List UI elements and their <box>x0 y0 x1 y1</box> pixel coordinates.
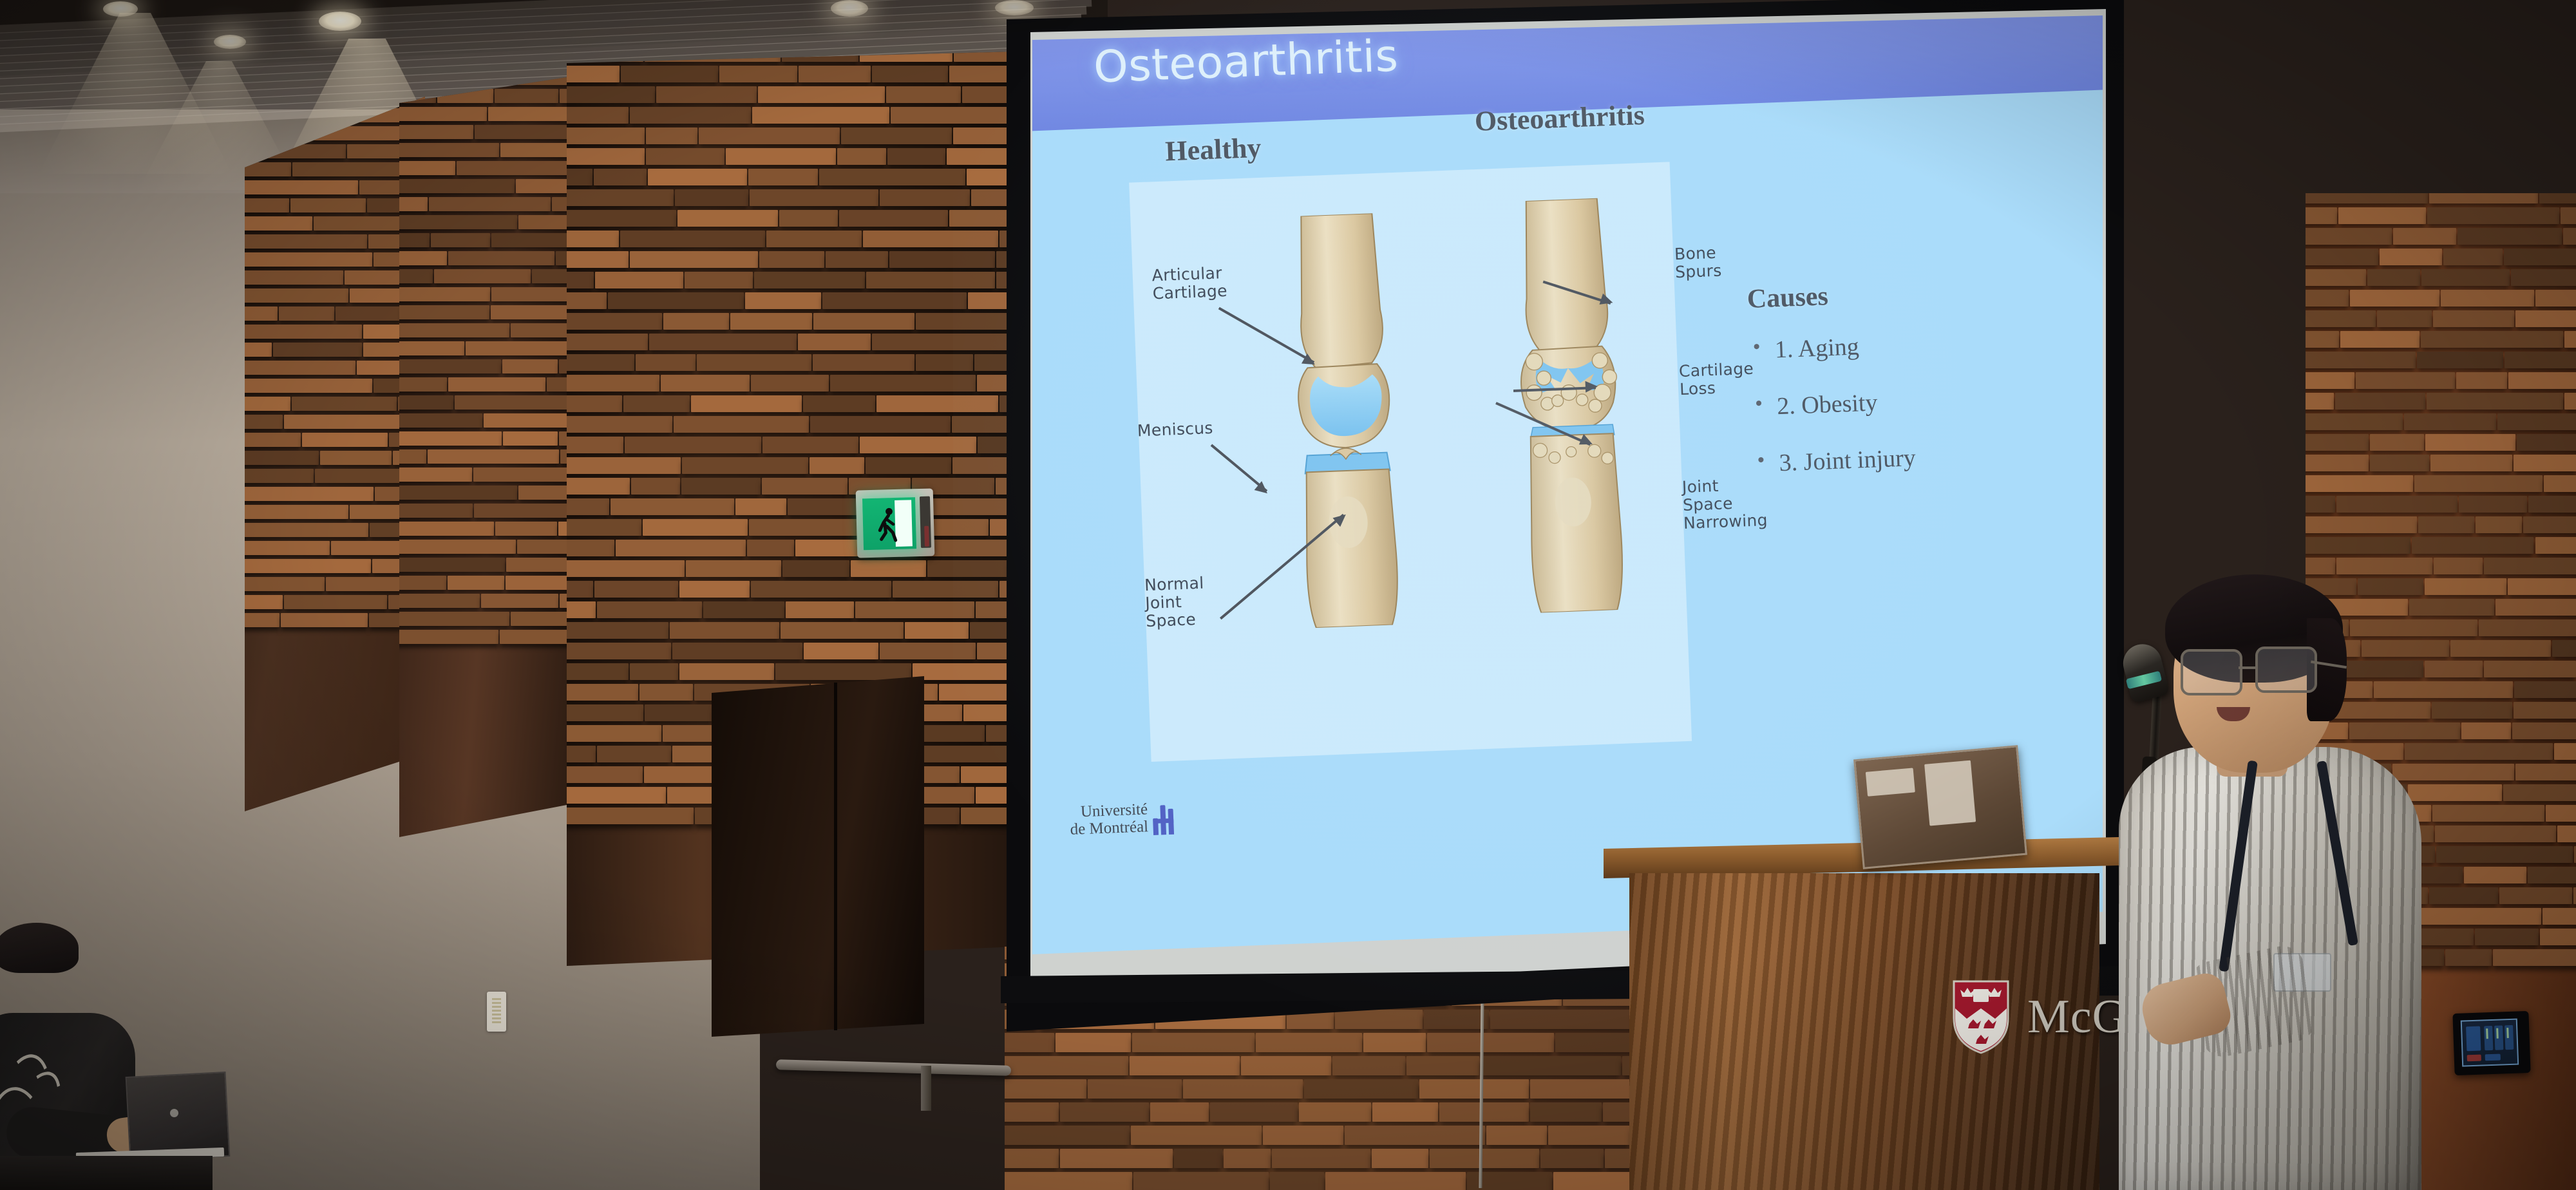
wood-plank <box>1299 1102 1371 1122</box>
wood-plank <box>893 581 998 598</box>
wood-plank <box>2427 207 2559 224</box>
handrail <box>776 1059 1011 1076</box>
wood-plank <box>518 486 567 500</box>
wood-plank <box>616 540 746 556</box>
wood-plank <box>826 251 889 268</box>
wood-plank <box>567 127 645 144</box>
wood-plank <box>567 498 609 515</box>
wood-plank <box>560 89 567 103</box>
wood-plank <box>1005 1126 1130 1145</box>
wood-plank <box>1406 1056 1479 1075</box>
wood-plank <box>2338 207 2426 224</box>
wood-plank <box>567 807 694 824</box>
wood-plank <box>399 449 426 464</box>
wood-plank <box>567 272 594 288</box>
wood-plank <box>284 415 413 429</box>
wood-plank <box>675 189 748 206</box>
wood-plank <box>636 354 696 371</box>
wood-plank <box>866 457 951 474</box>
cause-item: 1. Aging <box>1774 330 1912 364</box>
wood-plank <box>245 343 272 357</box>
wood-plank <box>2554 743 2576 760</box>
wood-plank <box>2306 434 2369 451</box>
wall-switch-plate[interactable] <box>487 992 506 1032</box>
wood-plank <box>245 415 283 429</box>
wood-plank <box>2503 784 2576 801</box>
wood-plank <box>799 66 871 82</box>
mcgill-shield-icon <box>1951 979 2011 1055</box>
av-volume-slider[interactable] <box>2505 1025 2514 1050</box>
wood-plank <box>567 457 681 474</box>
wood-plank <box>880 189 970 206</box>
wood-plank <box>1241 1056 1331 1075</box>
av-volume-slider[interactable] <box>2484 1026 2493 1050</box>
av-volume-slider[interactable] <box>2494 1025 2503 1050</box>
wood-plank <box>567 601 596 618</box>
wood-plank <box>2433 310 2514 327</box>
wood-plank <box>2377 310 2432 327</box>
annotation-cartilage-loss: CartilageLoss <box>1679 360 1755 399</box>
lecture-hall-scene: Osteoarthritis Healthy Osteoarthritis <box>0 0 2576 1190</box>
wood-plank <box>751 375 829 392</box>
wood-plank <box>245 559 371 573</box>
wood-plank <box>399 143 499 157</box>
laptop-sticker <box>1866 768 1915 796</box>
wood-plank <box>2479 619 2576 636</box>
wood-plank <box>1210 1102 1298 1122</box>
wood-plank <box>2432 702 2512 719</box>
wood-plank <box>399 251 447 265</box>
wood-plank <box>2528 496 2576 513</box>
wood-plank <box>2350 290 2439 307</box>
wood-plank <box>567 766 643 783</box>
wood-plank <box>399 630 498 644</box>
wood-plank <box>567 478 630 495</box>
exit-sign-led <box>924 526 929 547</box>
wood-plank <box>2306 475 2413 492</box>
wood-plank <box>475 125 567 139</box>
wood-plank <box>608 292 744 309</box>
wood-plank <box>876 395 998 412</box>
wood-plank <box>457 161 567 175</box>
wood-plank <box>2564 393 2576 410</box>
wood-plank <box>1419 1079 1529 1099</box>
wood-plank <box>399 612 509 626</box>
wood-plank-column <box>399 77 567 837</box>
wood-plank <box>2306 249 2378 265</box>
wood-plank <box>2441 290 2534 307</box>
wood-plank <box>2450 640 2551 657</box>
wood-plank <box>2476 516 2522 533</box>
cause-item: 3. Joint injury <box>1779 444 1917 477</box>
wood-plank <box>751 581 891 598</box>
wood-plank <box>1133 1172 1269 1190</box>
wood-plank <box>927 560 1008 577</box>
wood-plank <box>245 487 374 501</box>
exit-sign-face <box>862 497 916 550</box>
wood-plank <box>245 198 289 212</box>
av-panel-screen[interactable] <box>2461 1019 2519 1067</box>
wood-plank <box>2539 193 2576 203</box>
wood-plank <box>428 449 558 464</box>
wood-plank <box>518 215 567 229</box>
wood-plank <box>685 272 753 288</box>
wood-plank <box>245 270 343 285</box>
wood-plank <box>1224 1149 1271 1168</box>
wood-plank <box>556 251 567 265</box>
wood-plank <box>747 540 794 556</box>
wood-plank <box>399 540 516 554</box>
wood-plank <box>567 354 634 371</box>
wood-plank <box>488 107 567 121</box>
wood-plank <box>2356 372 2455 389</box>
wood-plank <box>887 148 945 165</box>
wood-plank <box>2484 558 2576 574</box>
wood-plank <box>245 577 325 591</box>
wood-plank <box>730 313 812 330</box>
wood-plank <box>1372 1102 1438 1122</box>
wood-plank <box>399 323 509 337</box>
wood-plank <box>1056 1033 1131 1052</box>
downlight-icon <box>214 35 246 49</box>
wood-plank <box>517 540 567 554</box>
laptop-sticker <box>1924 760 1976 826</box>
wood-plank <box>273 343 362 357</box>
wood-plank <box>928 498 1018 515</box>
laptop-logo-icon <box>170 1109 178 1117</box>
wood-plank <box>810 416 951 433</box>
wood-plank-wall <box>245 97 425 811</box>
wood-plank <box>567 251 629 268</box>
causes-block: Causes 1. Aging 2. Obesity 3. Joint inju… <box>1744 278 1917 507</box>
wood-plank <box>2421 269 2509 286</box>
cause-item: 2. Obesity <box>1776 387 1914 420</box>
wood-plank <box>786 601 853 618</box>
wood-plank <box>699 127 840 144</box>
wood-plank <box>837 148 886 165</box>
wood-plank <box>431 233 490 247</box>
wood-plank <box>2514 702 2576 719</box>
wood-plank <box>759 251 824 268</box>
wood-plank <box>819 169 965 185</box>
wood-plank <box>2495 599 2576 616</box>
wood-plank <box>851 560 926 577</box>
wood-plank <box>567 622 668 639</box>
wood-plank <box>245 361 355 375</box>
wood-plank <box>2425 434 2515 451</box>
wood-plank <box>399 522 494 536</box>
wood-plank <box>886 86 961 103</box>
wood-plank <box>2306 413 2403 430</box>
wood-plank <box>567 704 643 721</box>
wood-plank <box>245 469 314 483</box>
wood-plank <box>429 197 551 211</box>
wood-plank <box>2523 516 2576 533</box>
wood-plank <box>567 519 641 536</box>
wood-plank <box>2418 516 2474 533</box>
wood-plank <box>567 169 592 185</box>
wood-plank <box>656 86 757 103</box>
wood-plank <box>813 313 914 330</box>
wood-plank <box>399 107 487 121</box>
wood-plank <box>697 354 811 371</box>
podium: McGill <box>1604 837 2119 1190</box>
wood-plank <box>245 252 372 267</box>
wood-plank <box>2306 393 2334 410</box>
wood-plank <box>245 307 278 321</box>
wood-plank <box>1060 1149 1172 1168</box>
wood-plank <box>726 148 836 165</box>
wood-plank <box>1130 1056 1240 1075</box>
wood-plank <box>2436 846 2573 863</box>
wood-plank <box>399 594 480 608</box>
wood-plank <box>245 397 290 411</box>
wood-plank <box>1486 1126 1547 1145</box>
wood-plank <box>758 86 885 103</box>
wood-plank <box>399 161 455 175</box>
wood-plank <box>2546 805 2576 822</box>
wood-plank <box>1256 1033 1362 1052</box>
wood-plank <box>560 449 567 464</box>
wood-plank <box>2464 867 2526 883</box>
wood-plank <box>754 272 865 288</box>
wood-plank <box>455 395 567 410</box>
wood-plank <box>567 231 619 247</box>
wood-plank <box>2367 269 2421 286</box>
presenter-laptop[interactable] <box>1853 745 2027 869</box>
universite-de-montreal-logo: Université de Montréal <box>1069 799 1179 838</box>
downlight-icon <box>319 12 361 31</box>
wood-plank <box>645 704 712 721</box>
downlight-icon <box>995 0 1034 15</box>
wood-plank <box>2461 722 2511 739</box>
wood-plank <box>2499 887 2573 904</box>
wood-plank <box>2306 207 2337 224</box>
wood-plank <box>2505 352 2576 368</box>
wood-plank <box>1150 1102 1209 1122</box>
wood-plank <box>750 189 878 206</box>
wood-plank <box>500 143 567 157</box>
wood-plank <box>567 334 648 350</box>
wood-plank <box>2484 661 2576 677</box>
wood-plank <box>2514 681 2576 698</box>
wood-plank <box>803 395 875 412</box>
wood-plank <box>782 560 849 577</box>
wood-plank <box>559 431 567 446</box>
wood-plank <box>399 305 489 319</box>
wood-plank <box>2306 537 2410 554</box>
wood-plank <box>245 433 301 447</box>
wood-plank <box>567 210 676 227</box>
wood-plank <box>813 354 914 371</box>
wood-plank <box>1272 1149 1370 1168</box>
wood-plank <box>567 313 662 330</box>
wood-plank <box>552 197 567 211</box>
wood-plank <box>1005 1172 1132 1190</box>
wood-plank <box>466 341 567 355</box>
wood-plank <box>2306 228 2392 245</box>
wood-plank <box>670 622 779 639</box>
wood-plank <box>292 397 397 411</box>
wood-plank <box>2508 578 2576 595</box>
wood-plank <box>473 467 567 482</box>
wood-plank <box>681 478 761 495</box>
wood-plank <box>567 643 671 659</box>
wood-plank <box>2497 413 2576 430</box>
av-tile[interactable] <box>2466 1026 2481 1052</box>
wood-plank <box>2306 516 2417 533</box>
wood-plank <box>2514 455 2576 471</box>
wood-plank <box>399 576 446 590</box>
wood-plank <box>2336 496 2458 513</box>
wood-plank <box>434 269 530 283</box>
wood-plank <box>506 576 567 590</box>
wood-plank <box>2430 455 2512 471</box>
wood-plank <box>1427 1033 1554 1052</box>
wood-plank <box>686 560 781 577</box>
wood-plank <box>2493 949 2576 966</box>
av-action-button[interactable] <box>2485 1054 2501 1061</box>
wood-plank <box>2421 331 2563 348</box>
wood-plank <box>511 612 567 626</box>
wood-plank <box>648 169 747 185</box>
wood-plank <box>567 725 661 742</box>
udem-mark-icon <box>1153 804 1180 835</box>
wood-plank <box>630 107 751 124</box>
wood-plank <box>1430 1149 1539 1168</box>
wood-plank <box>620 231 765 247</box>
wood-plank <box>567 787 666 804</box>
wood-plank <box>399 558 505 572</box>
av-control-panel[interactable] <box>2452 1011 2530 1075</box>
wood-plank <box>2515 310 2576 327</box>
wood-plank <box>245 541 330 555</box>
wood-plank <box>611 498 734 515</box>
wood-plank <box>567 292 607 309</box>
wood-plank <box>672 643 802 659</box>
door-seam <box>834 683 837 1030</box>
wood-plank <box>872 66 948 82</box>
wood-plank <box>2340 331 2419 348</box>
wood-plank <box>1345 1126 1486 1145</box>
wood-plank <box>2404 413 2496 430</box>
wood-plank <box>1005 1102 1059 1122</box>
wood-plank <box>595 272 683 288</box>
udem-line2: de Montréal <box>1070 818 1148 838</box>
wood-plank <box>560 594 567 608</box>
wood-plank <box>399 125 473 139</box>
wood-plank <box>643 519 748 536</box>
wood-plank <box>2540 929 2576 945</box>
wood-plank <box>779 210 838 227</box>
wood-plank <box>2306 290 2349 307</box>
wood-plank <box>399 215 517 229</box>
wood-plank <box>839 210 949 227</box>
wood-plank <box>913 663 1014 680</box>
wood-plank <box>1263 1126 1343 1145</box>
wood-plank <box>399 359 501 373</box>
wood-plank <box>2306 310 2376 327</box>
wood-plank <box>855 601 974 618</box>
wood-plank <box>822 292 967 309</box>
wood-plank <box>1481 1056 1621 1075</box>
wood-plank <box>1372 1149 1428 1168</box>
wood-plank <box>1005 1079 1086 1099</box>
annotation-articular-cartilage: ArticularCartilage <box>1151 264 1227 303</box>
wood-plank <box>2552 640 2576 657</box>
wood-plank <box>567 540 614 556</box>
handrail-post <box>921 1066 931 1111</box>
wood-plank <box>1325 1172 1466 1190</box>
wood-plank <box>547 377 567 392</box>
wood-plank <box>567 416 672 433</box>
wood-plank <box>1424 1010 1489 1029</box>
wood-plank <box>245 379 372 393</box>
wood-plank <box>2564 331 2576 348</box>
wood-plank <box>399 233 430 247</box>
emergency-exit-sign <box>856 488 935 558</box>
av-power-button[interactable] <box>2467 1055 2481 1062</box>
wood-plank <box>399 467 472 482</box>
wood-plank <box>399 269 433 283</box>
wood-plank <box>399 377 447 392</box>
wood-plank <box>2427 393 2563 410</box>
udem-wordmark: Université de Montréal <box>1069 800 1148 838</box>
wood-plank <box>567 684 638 701</box>
wood-plank <box>1060 1102 1149 1122</box>
wood-plank <box>245 234 367 249</box>
wood-plank <box>491 287 567 301</box>
wood-plank <box>2515 764 2576 780</box>
wood-plank <box>448 576 504 590</box>
wood-plank <box>2306 331 2339 348</box>
wood-plank <box>474 504 567 518</box>
wood-plank <box>567 86 655 103</box>
wood-plank <box>399 486 517 500</box>
wood-plank <box>506 558 567 572</box>
wood-plank <box>279 307 334 321</box>
wood-plank <box>2535 537 2576 554</box>
wood-plank <box>2434 558 2482 574</box>
wood-plank <box>567 560 685 577</box>
wood-plank <box>830 375 976 392</box>
wood-plank <box>2511 269 2576 286</box>
wood-plank <box>559 359 567 373</box>
wood-plank <box>2512 722 2576 739</box>
wood-plank <box>567 375 659 392</box>
wood-plank <box>1270 1172 1323 1190</box>
wood-plank <box>245 180 358 194</box>
wood-plank <box>1174 1149 1222 1168</box>
wood-plank <box>2561 207 2576 224</box>
wood-plank <box>2370 455 2429 471</box>
wood-plank <box>1304 1079 1418 1099</box>
wood-plank <box>2306 455 2369 471</box>
wood-plank <box>558 522 567 536</box>
wood-plank <box>1183 1079 1303 1099</box>
wood-plank <box>623 395 690 412</box>
wood-plank <box>1363 1033 1426 1052</box>
wood-plank <box>1335 1010 1423 1029</box>
wood-plank <box>766 231 862 247</box>
wood-plank <box>399 504 473 518</box>
wood-plank <box>2306 193 2428 203</box>
wood-plank <box>597 601 702 618</box>
wood-plank <box>399 197 428 211</box>
wood-plank <box>860 437 976 453</box>
causes-heading: Causes <box>1747 278 1910 315</box>
wood-plank <box>2429 193 2538 203</box>
